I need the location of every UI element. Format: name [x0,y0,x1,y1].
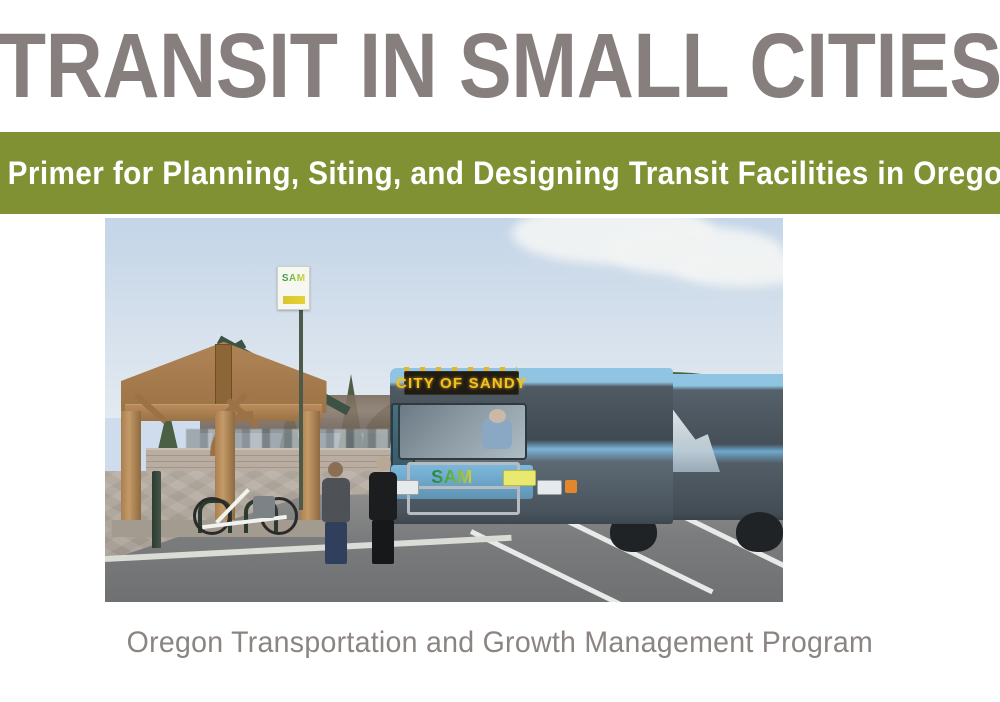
bus-stop-sign-strip [283,296,305,304]
waiting-passenger [369,456,397,564]
bus-stop-sign-brand: SAM [282,274,306,284]
bus-windshield [398,403,527,460]
page-title: TRANSIT IN SMALL CITIES [0,20,1000,112]
passenger-head [376,456,391,471]
bus-roof-marker-lights [404,367,517,371]
bus-driver-head [489,409,506,423]
bicycle-pannier [253,496,275,518]
bus-headlight [537,480,562,494]
passenger-torso [322,478,350,522]
title-zone: TRANSIT IN SMALL CITIES [0,0,1000,132]
subtitle-text: A Primer for Planning, Siting, and Desig… [0,156,1000,190]
bike-rack [193,471,308,532]
footer-zone: Oregon Transportation and Growth Managem… [0,608,1000,678]
bus-stop-sign: SAM [277,266,310,310]
passenger-head [328,462,343,477]
passenger-torso [369,472,397,520]
passenger-legs [325,522,347,564]
bus-license-plate [503,470,536,486]
subtitle-banner: A Primer for Planning, Siting, and Desig… [0,132,1000,214]
bus-wheel [736,512,783,552]
passenger-legs [372,520,394,564]
publisher-text: Oregon Transportation and Growth Managem… [127,627,873,659]
cover-photograph: SAM City of Sandy [105,218,783,602]
waiting-passenger [322,462,350,564]
bus-destination-sign: CITY OF SANDY [404,371,519,395]
bollard [152,471,161,548]
bus-destination-text: CITY OF SANDY [396,376,527,391]
bus-headlight [394,480,419,494]
bus-turn-signal [565,480,576,492]
shelter-post [121,411,141,525]
document-cover: TRANSIT IN SMALL CITIES A Primer for Pla… [0,0,1000,702]
transit-bus: City of Sandy CITY OF SANDY SAM [390,352,783,552]
photo-scene: SAM City of Sandy [105,218,783,602]
bus-front-body: CITY OF SANDY SAM [390,368,673,524]
